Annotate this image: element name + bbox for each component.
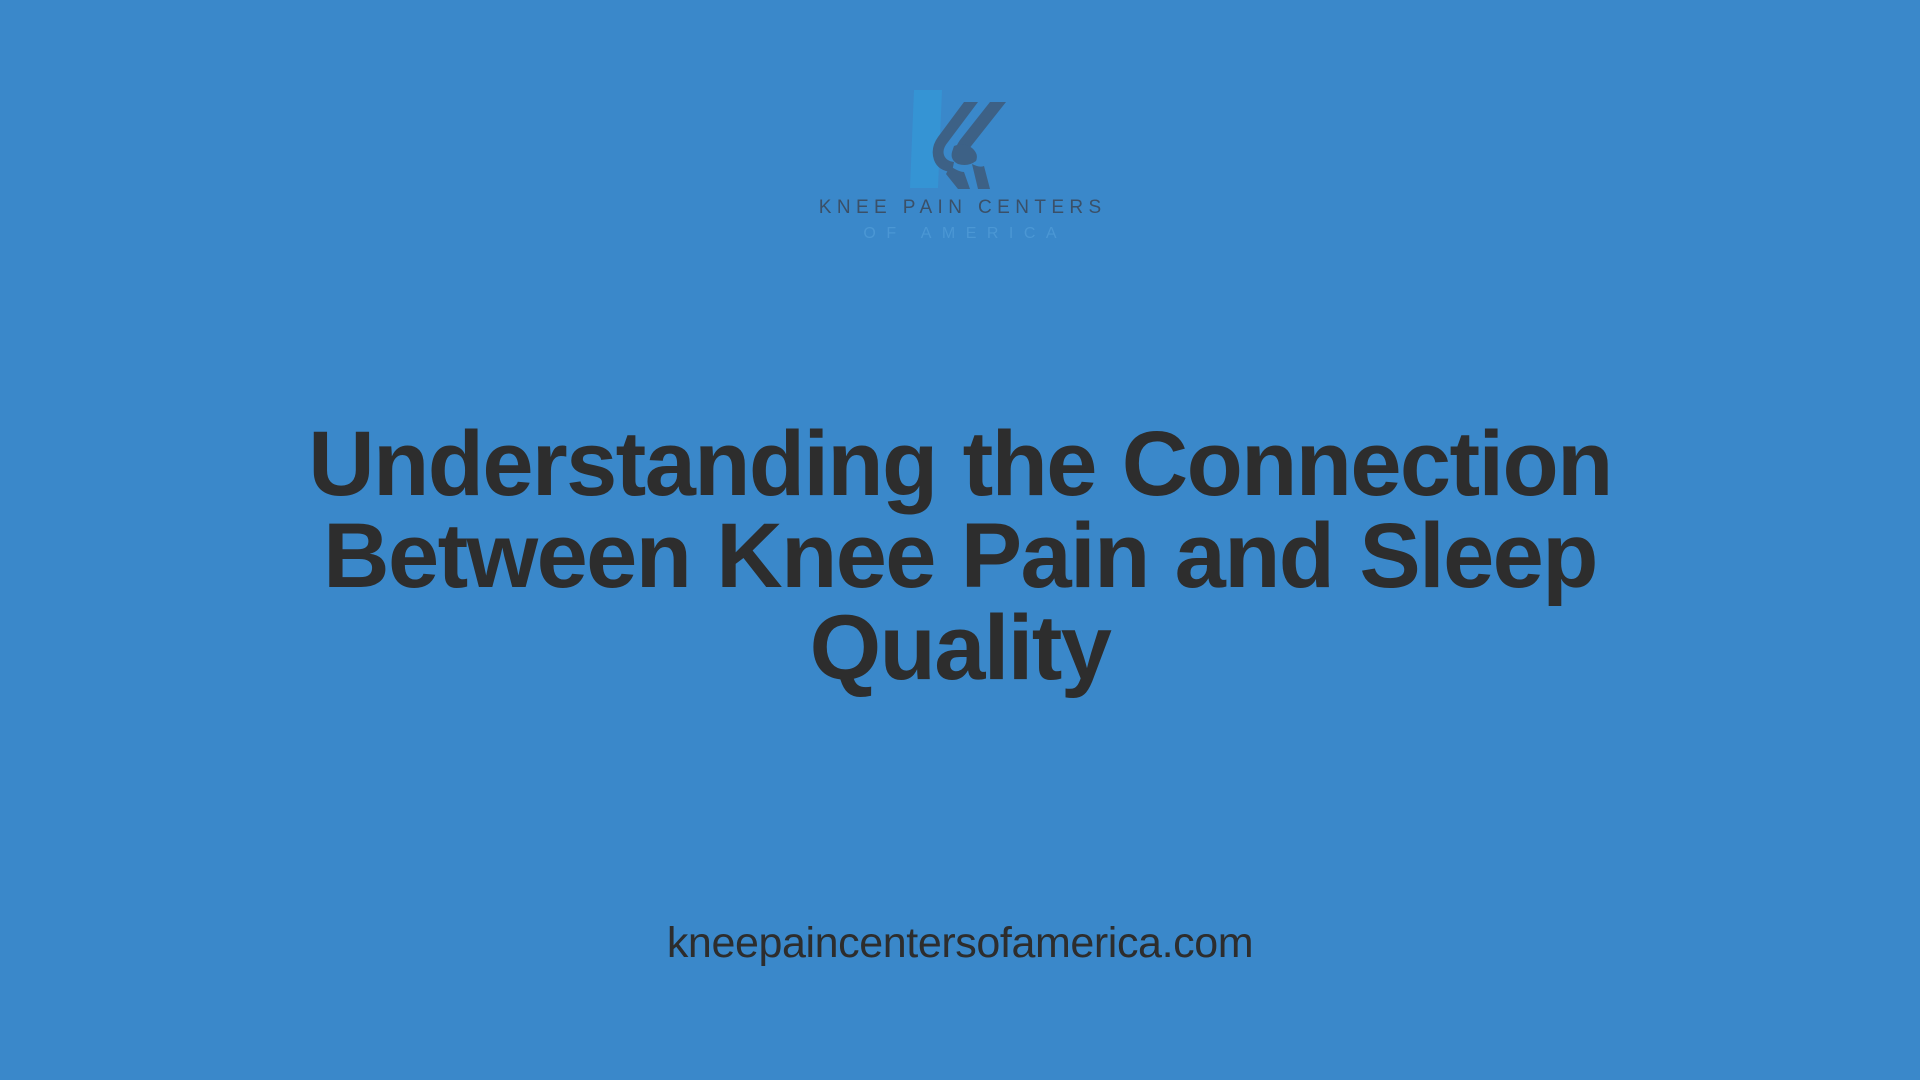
brand-wordmark-sub: OF AMERICA bbox=[853, 226, 1067, 242]
slide-canvas: KNEE PAIN CENTERS OF AMERICA Understandi… bbox=[0, 0, 1920, 1080]
knee-joint-k-logo-icon bbox=[902, 88, 1018, 192]
page-title: Understanding the Connection Between Kne… bbox=[230, 418, 1690, 694]
title-line-3: Quality bbox=[230, 602, 1690, 694]
brand-logo-block: KNEE PAIN CENTERS OF AMERICA bbox=[0, 88, 1920, 242]
brand-wordmark: KNEE PAIN CENTERS bbox=[813, 198, 1106, 217]
footer: kneepaincentersofamerica.com bbox=[0, 920, 1920, 967]
title-heading: Understanding the Connection Between Kne… bbox=[230, 418, 1690, 694]
title-line-1: Understanding the Connection bbox=[230, 418, 1690, 510]
title-line-2: Between Knee Pain and Sleep bbox=[230, 510, 1690, 602]
website-url[interactable]: kneepaincentersofamerica.com bbox=[0, 920, 1920, 967]
